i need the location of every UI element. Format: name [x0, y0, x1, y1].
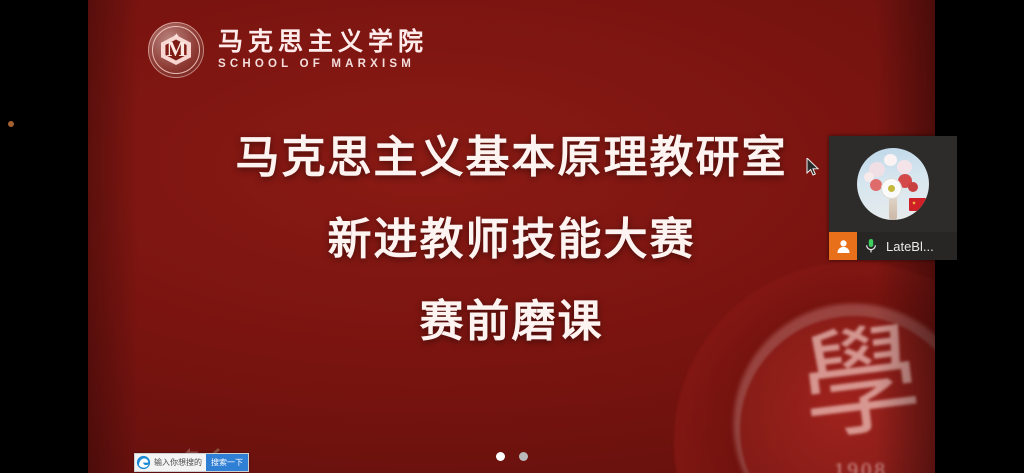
avatar-flag-icon — [909, 198, 926, 211]
logo-english-name: SCHOOL OF MARXISM — [218, 58, 428, 70]
search-button[interactable]: 搜索一下 — [206, 454, 248, 471]
mouse-pointer-icon — [806, 158, 820, 176]
logo-text-block: 马克思主义学院 SCHOOL OF MARXISM — [218, 30, 428, 70]
microphone-icon[interactable] — [861, 238, 881, 254]
search-input[interactable]: 输入你想搜的 — [154, 457, 206, 468]
participant-avatar-area — [829, 136, 957, 232]
emblem-letter: M — [148, 37, 204, 62]
edge-browser-icon[interactable] — [136, 455, 151, 470]
shield-emblem-icon: M — [148, 22, 204, 78]
pager-dot-2[interactable] — [519, 452, 528, 461]
person-icon[interactable] — [829, 232, 857, 260]
presentation-slide[interactable]: 學 1908 师范大学 M 马克思主义学院 SCHOOL OF MARXISM … — [88, 0, 935, 473]
slide-title-line-3: 赛前磨课 — [88, 292, 935, 352]
participant-name-bar: LateBl... — [829, 232, 957, 260]
participant-video-tile[interactable]: LateBl... — [829, 136, 957, 260]
flower-bouquet-avatar — [857, 148, 929, 220]
slide-title-line-2: 新进教师技能大赛 — [88, 210, 935, 270]
avatar-daisy-center — [888, 185, 895, 192]
participant-name: LateBl... — [886, 239, 934, 254]
pager-dot-1[interactable] — [496, 452, 505, 461]
avatar-petal — [908, 182, 918, 192]
avatar-petal — [884, 154, 897, 166]
screen-capture: 學 1908 师范大学 M 马克思主义学院 SCHOOL OF MARXISM … — [0, 0, 1024, 473]
gutter-indicator-dot — [8, 121, 14, 127]
school-logo: M 马克思主义学院 SCHOOL OF MARXISM — [148, 22, 428, 78]
logo-chinese-name: 马克思主义学院 — [218, 30, 428, 56]
browser-search-widget[interactable]: 输入你想搜的 搜索一下 — [134, 453, 249, 472]
avatar-petal — [897, 160, 912, 174]
